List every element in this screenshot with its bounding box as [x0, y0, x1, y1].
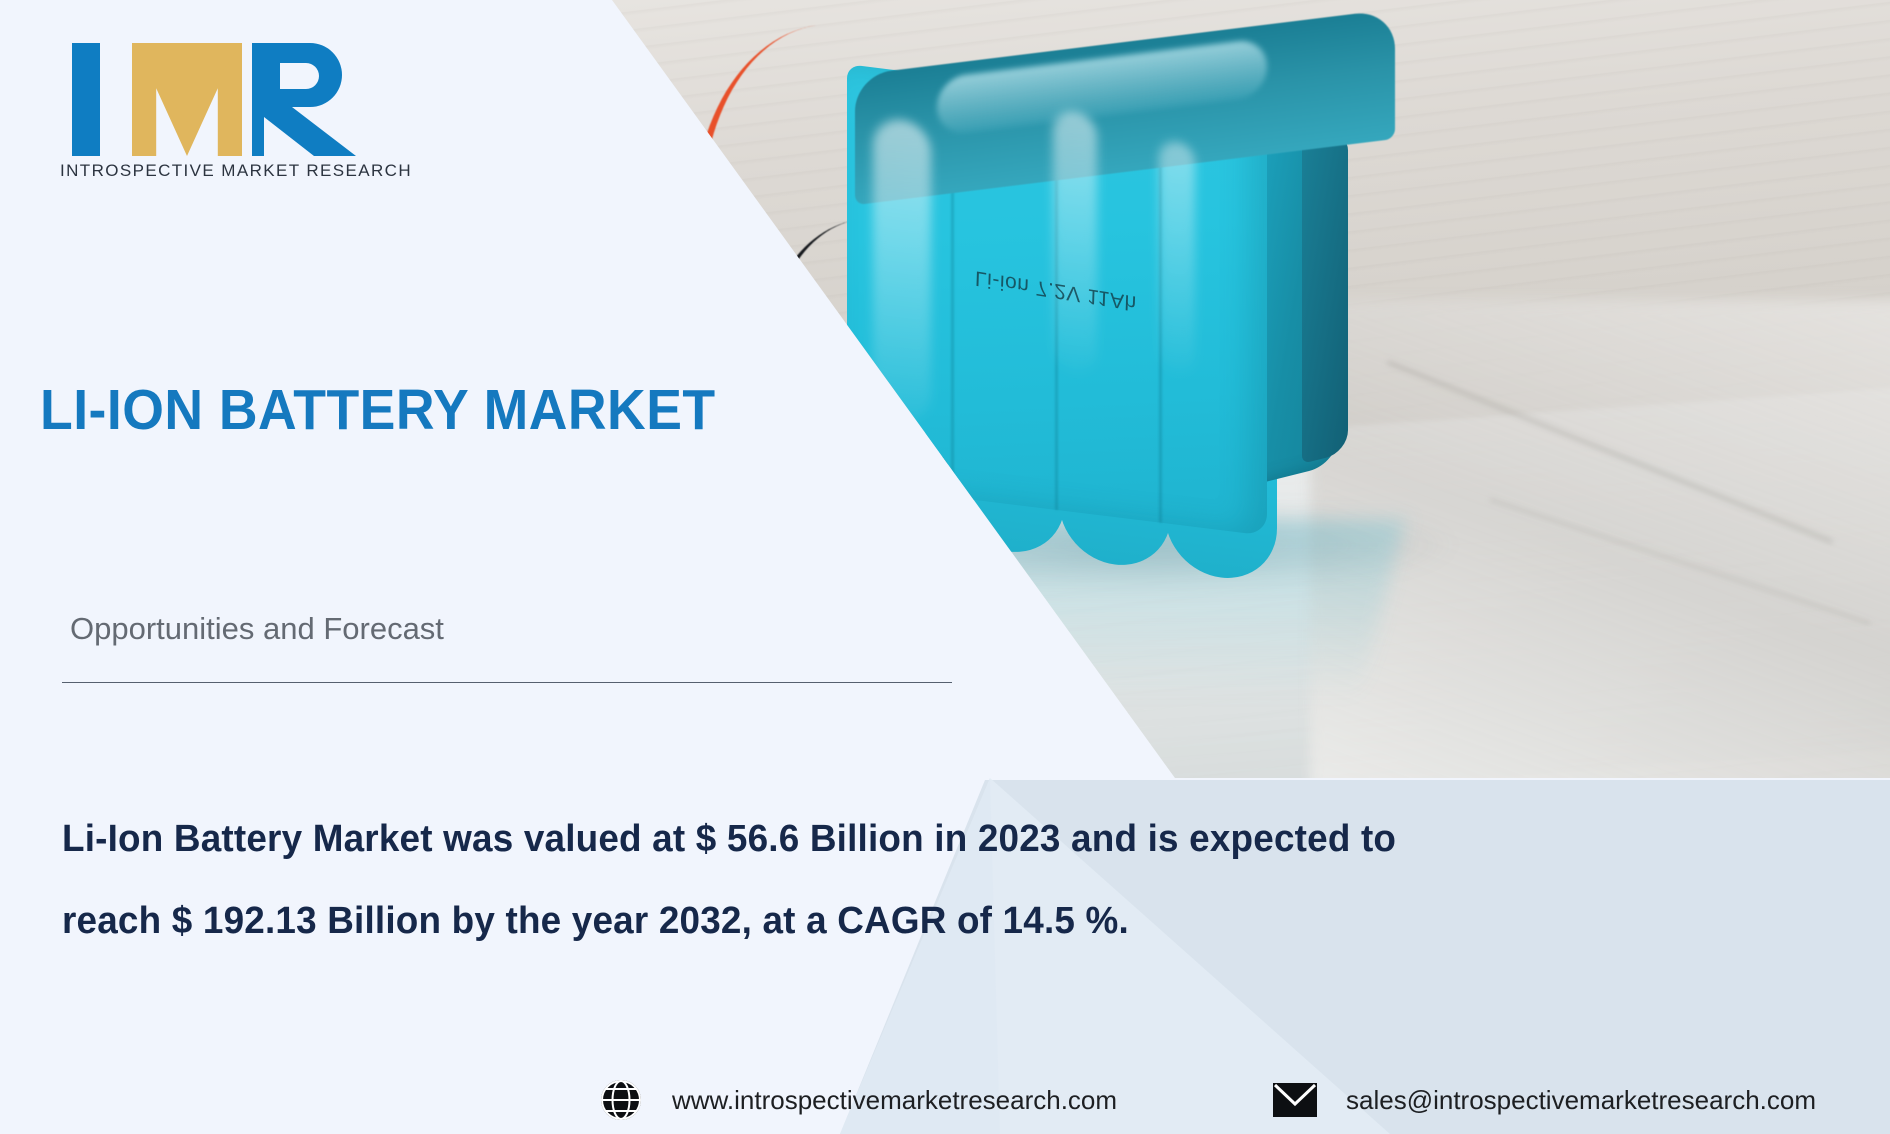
subtitle: Opportunities and Forecast	[70, 611, 444, 647]
website-text: www.introspectivemarketresearch.com	[672, 1085, 1117, 1116]
report-cover: Li-ion 7.2V 11Ah INTROSPECTIVE MARKET RE…	[0, 0, 1890, 1134]
battery-gloss-center	[1053, 109, 1097, 374]
logo-letterforms	[60, 33, 360, 158]
email-text: sales@introspectivemarketresearch.com	[1346, 1085, 1816, 1116]
imr-logo: INTROSPECTIVE MARKET RESEARCH	[60, 33, 370, 193]
footer-website[interactable]: www.introspectivemarketresearch.com	[598, 1077, 1117, 1123]
divider	[62, 682, 952, 683]
logo-tagline: INTROSPECTIVE MARKET RESEARCH	[60, 161, 412, 181]
page-title: LI-ION BATTERY MARKET	[40, 377, 716, 443]
envelope-icon	[1272, 1077, 1318, 1123]
battery-side-shadow	[1302, 132, 1348, 463]
logo-letter-i	[72, 43, 100, 156]
battery-gloss-right	[1159, 140, 1195, 374]
logo-letter-r	[252, 43, 356, 156]
globe-icon	[598, 1077, 644, 1123]
market-statement: Li-Ion Battery Market was valued at $ 56…	[62, 798, 1478, 962]
footer-email[interactable]: sales@introspectivemarketresearch.com	[1272, 1077, 1816, 1123]
